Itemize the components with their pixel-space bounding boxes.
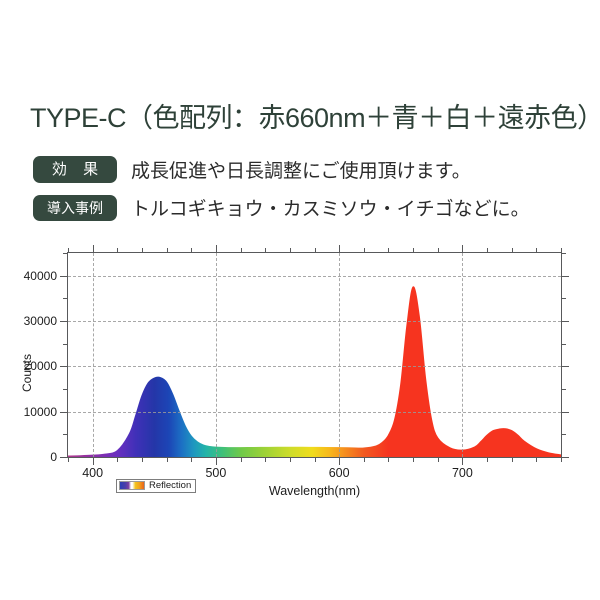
y-tick-label: 20000 <box>24 359 57 373</box>
x-tick-minor <box>487 248 488 253</box>
x-tick-minor <box>68 248 69 253</box>
x-tick-major <box>93 245 94 253</box>
x-tick-major <box>462 245 463 253</box>
x-tick-label: 600 <box>329 466 350 480</box>
gridline-horizontal <box>68 366 561 367</box>
y-tick-minor <box>561 344 566 345</box>
y-tick-label: 40000 <box>24 269 57 283</box>
plot-canvas <box>68 253 561 457</box>
gridline-horizontal <box>68 276 561 277</box>
legend-label: Reflection <box>149 481 191 491</box>
x-tick-major <box>339 245 340 253</box>
y-tick-minor <box>561 434 566 435</box>
y-tick-minor <box>561 253 566 254</box>
x-tick-minor <box>536 457 537 462</box>
x-tick-minor <box>315 457 316 462</box>
y-tick-minor <box>63 298 68 299</box>
x-tick-minor <box>413 457 414 462</box>
y-tick-minor <box>63 434 68 435</box>
x-tick-major <box>216 457 217 465</box>
x-tick-minor <box>167 457 168 462</box>
x-tick-major <box>93 457 94 465</box>
y-tick-label: 10000 <box>24 405 57 419</box>
y-tick-minor <box>63 253 68 254</box>
usecase-badge: 導入事例 <box>33 195 117 221</box>
y-tick-minor <box>63 344 68 345</box>
x-tick-minor <box>241 457 242 462</box>
y-tick-minor <box>63 389 68 390</box>
x-tick-minor <box>117 248 118 253</box>
effect-description: 成長促進や日長調整にご使用頂けます。 <box>131 156 471 183</box>
legend-color-swatch <box>119 481 145 490</box>
x-tick-minor <box>142 457 143 462</box>
y-tick-major <box>60 276 68 277</box>
y-tick-major <box>60 321 68 322</box>
x-tick-minor <box>117 457 118 462</box>
legend: Reflection <box>116 479 196 493</box>
effect-row: 効 果 成長促進や日長調整にご使用頂けます。 <box>33 156 471 183</box>
y-tick-major <box>60 412 68 413</box>
page-title-text: TYPE-C（色配列：赤660nm＋青＋白＋遠赤色） <box>30 103 600 133</box>
x-tick-minor <box>167 248 168 253</box>
y-tick-label: 30000 <box>24 314 57 328</box>
spectrum-area <box>68 287 561 457</box>
usecase-row: 導入事例 トルコギキョウ・カスミソウ・イチゴなどに。 <box>33 194 530 221</box>
product-spec-sheet: TYPE-C（色配列：赤660nm＋青＋白＋遠赤色） 効 果 成長促進や日長調整… <box>0 0 600 600</box>
effect-badge: 効 果 <box>33 156 117 183</box>
y-tick-major <box>60 457 68 458</box>
x-tick-minor <box>290 457 291 462</box>
x-tick-minor <box>536 248 537 253</box>
spectrum-chart: Counts 010000200003000040000 40050060070… <box>0 240 600 505</box>
x-tick-label: 500 <box>205 466 226 480</box>
x-tick-minor <box>561 457 562 462</box>
x-tick-minor <box>241 248 242 253</box>
y-tick-label: 0 <box>50 450 57 464</box>
x-tick-minor <box>68 457 69 462</box>
x-tick-major <box>462 457 463 465</box>
x-tick-minor <box>315 248 316 253</box>
y-tick-minor <box>561 298 566 299</box>
x-tick-minor <box>388 457 389 462</box>
x-tick-minor <box>512 457 513 462</box>
gridline-vertical <box>462 253 463 457</box>
x-tick-major <box>216 245 217 253</box>
gridline-vertical <box>216 253 217 457</box>
x-tick-minor <box>438 248 439 253</box>
gridline-vertical <box>339 253 340 457</box>
y-tick-major <box>561 276 569 277</box>
gridline-vertical <box>93 253 94 457</box>
x-tick-minor <box>561 248 562 253</box>
x-tick-minor <box>413 248 414 253</box>
page-title: TYPE-C（色配列：赤660nm＋青＋白＋遠赤色） <box>30 96 590 135</box>
x-tick-minor <box>388 248 389 253</box>
y-tick-major <box>561 321 569 322</box>
gridline-horizontal <box>68 412 561 413</box>
x-tick-minor <box>265 457 266 462</box>
x-tick-minor <box>265 248 266 253</box>
y-tick-major <box>561 366 569 367</box>
x-tick-major <box>339 457 340 465</box>
y-tick-major <box>561 412 569 413</box>
x-tick-label: 400 <box>82 466 103 480</box>
gridline-horizontal <box>68 321 561 322</box>
x-tick-minor <box>290 248 291 253</box>
x-tick-minor <box>512 248 513 253</box>
y-tick-major <box>561 457 569 458</box>
x-tick-minor <box>438 457 439 462</box>
spectrum-curve <box>68 253 561 457</box>
plot-area: 010000200003000040000 400500600700 <box>67 252 562 458</box>
y-tick-minor <box>561 389 566 390</box>
x-tick-label: 700 <box>452 466 473 480</box>
usecase-description: トルコギキョウ・カスミソウ・イチゴなどに。 <box>131 194 530 221</box>
x-tick-minor <box>487 457 488 462</box>
x-tick-minor <box>191 248 192 253</box>
x-tick-minor <box>191 457 192 462</box>
x-tick-minor <box>364 457 365 462</box>
y-tick-major <box>60 366 68 367</box>
x-tick-minor <box>142 248 143 253</box>
x-tick-minor <box>364 248 365 253</box>
